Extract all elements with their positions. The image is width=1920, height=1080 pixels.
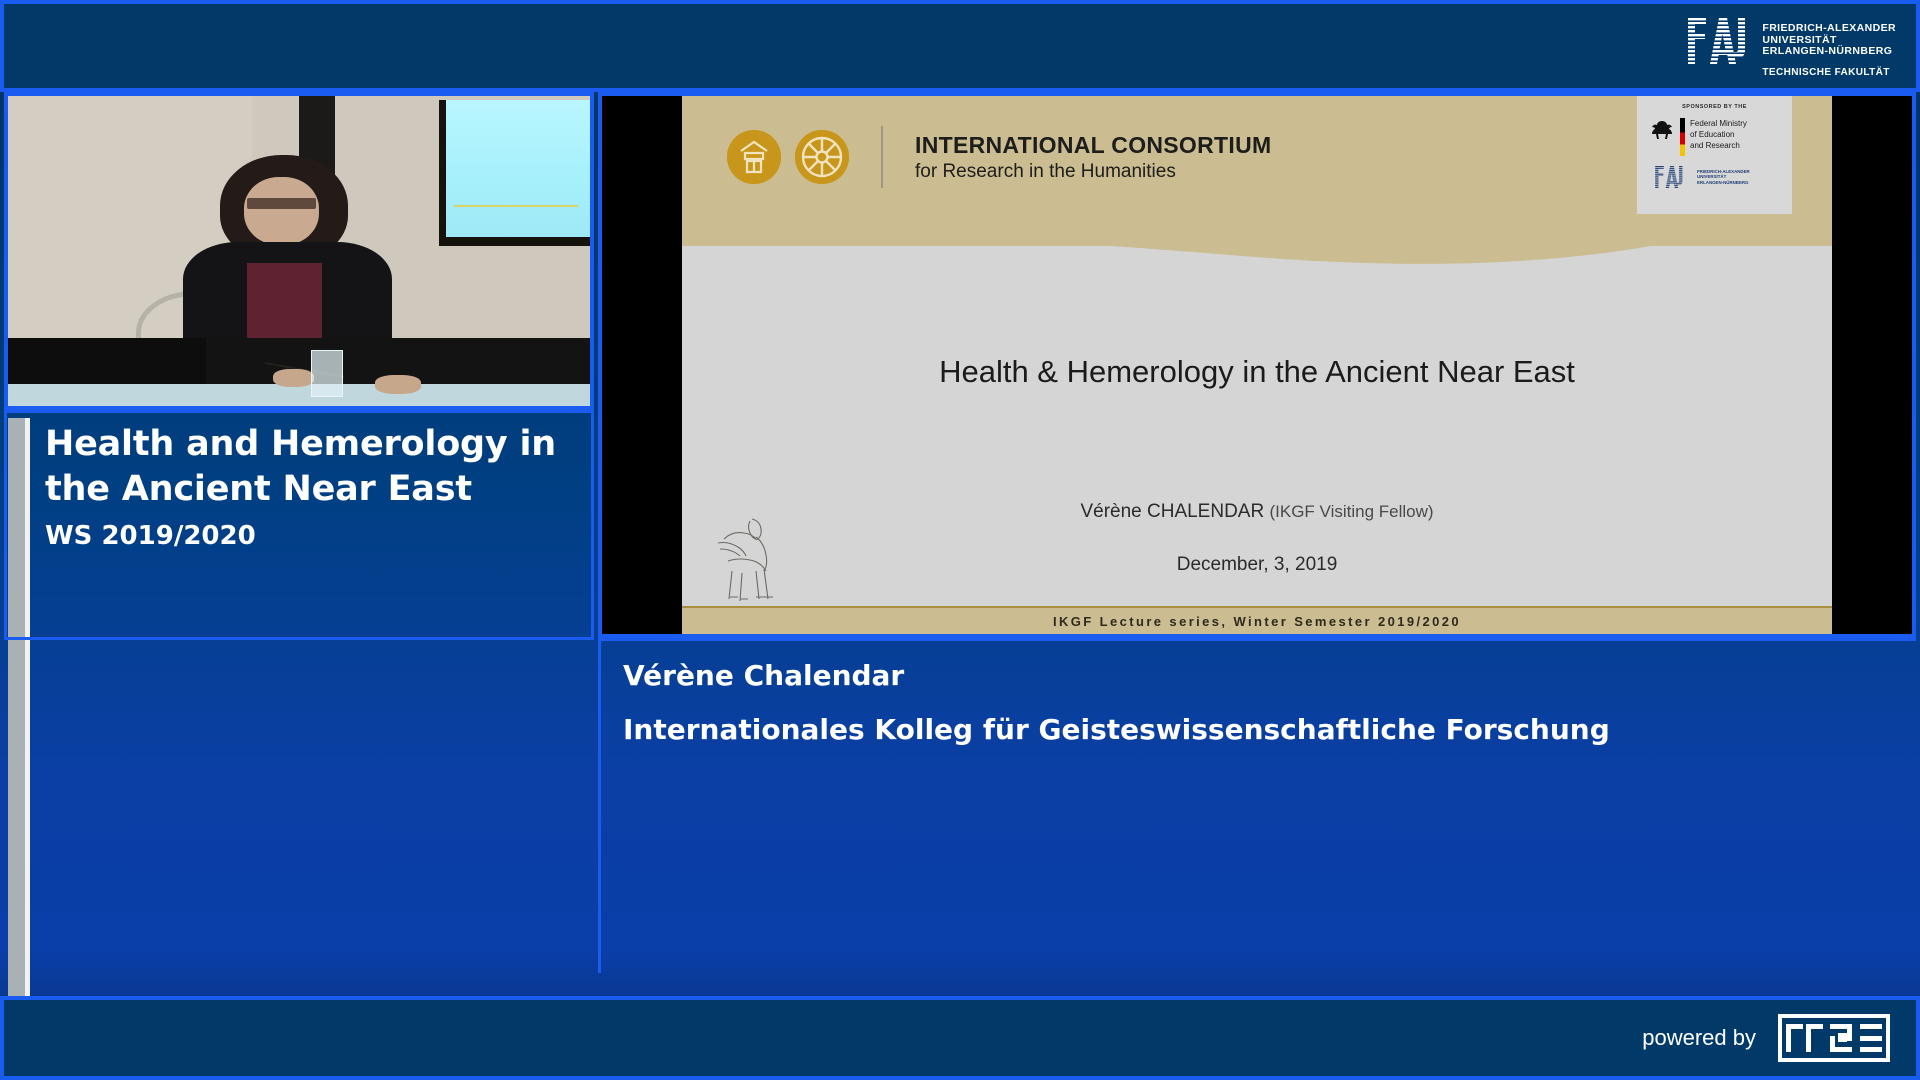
institution-line-3: ERLANGEN-NÜRNBERG <box>1762 46 1896 58</box>
speaker-info-block: Vérène Chalendar Internationales Kolleg … <box>598 638 1916 973</box>
speaker-name: Vérène Chalendar <box>623 659 904 692</box>
fau-brand[interactable]: FRIEDRICH-ALEXANDER UNIVERSITÄT ERLANGEN… <box>1688 18 1896 78</box>
speaker-organization: Internationales Kolleg für Geisteswissen… <box>623 713 1610 746</box>
slide-panel[interactable]: INTERNATIONAL CONSORTIUM for Research in… <box>598 92 1916 638</box>
institution-line-1: FRIEDRICH-ALEXANDER <box>1762 23 1896 35</box>
slide-title: Health & Hemerology in the Ancient Near … <box>682 354 1832 390</box>
video-desk-surface <box>8 384 590 406</box>
powered-by-group[interactable]: powered by <box>1642 1014 1890 1062</box>
sponsor-fau-line-3: ERLANGEN-NÜRNBERG <box>1697 180 1750 185</box>
german-eagle-icon <box>1649 118 1675 144</box>
speaker-face <box>244 177 320 245</box>
fau-logo-icon <box>1688 18 1750 64</box>
consortium-title: INTERNATIONAL CONSORTIUM <box>915 132 1271 159</box>
lecture-title: Health and Hemerology in the Ancient Nea… <box>45 422 575 512</box>
page-header: FRIEDRICH-ALEXANDER UNIVERSITÄT ERLANGEN… <box>0 0 1920 92</box>
speaker-hand-right <box>375 375 422 394</box>
sponsor-fau-text: FRIEDRICH-ALEXANDER UNIVERSITÄT ERLANGEN… <box>1697 169 1750 185</box>
slide-date: December, 3, 2019 <box>682 554 1832 576</box>
dharma-wheel-icon <box>795 130 849 184</box>
sponsor-fau-logo-icon <box>1647 166 1693 188</box>
slide-author: Vérène CHALENDAR (IKGF Visiting Fellow) <box>682 501 1832 523</box>
slide-author-name: Vérène CHALENDAR <box>1080 501 1264 522</box>
rrze-logo-icon <box>1778 1014 1890 1062</box>
water-glass <box>311 350 343 397</box>
powered-by-label: powered by <box>1642 1025 1756 1051</box>
german-flag-bar <box>1680 118 1685 156</box>
faculty-line: TECHNISCHE FAKULTÄT <box>1762 67 1896 79</box>
sponsor-caption: SPONSORED BY THE <box>1643 104 1786 110</box>
consortium-text: INTERNATIONAL CONSORTIUM for Research in… <box>915 132 1271 183</box>
fau-brand-text: FRIEDRICH-ALEXANDER UNIVERSITÄT ERLANGEN… <box>1762 18 1896 78</box>
lecture-term: WS 2019/2020 <box>45 519 575 553</box>
speaker-video-panel[interactable] <box>4 92 594 410</box>
video-projection-screen <box>439 100 590 246</box>
lecture-title-text: Health and Hemerology in the Ancient Nea… <box>45 422 575 553</box>
ikgf-house-icon <box>727 130 781 184</box>
page-footer: powered by <box>0 996 1920 1080</box>
brand-divider <box>881 126 883 188</box>
ministry-brand: Federal Ministry of Education and Resear… <box>1643 118 1786 156</box>
slide-footer-text: IKGF Lecture series, Winter Semester 201… <box>1053 614 1461 629</box>
slide-author-role: (IKGF Visiting Fellow) <box>1269 502 1433 521</box>
ministry-line-1: Federal Ministry <box>1690 118 1747 129</box>
player-page: FRIEDRICH-ALEXANDER UNIVERSITÄT ERLANGEN… <box>0 0 1920 1080</box>
speaker-hand-left <box>273 369 314 388</box>
sponsor-fau-brand: FRIEDRICH-ALEXANDER UNIVERSITÄT ERLANGEN… <box>1643 166 1786 188</box>
projection-text-line <box>454 205 578 207</box>
slide-footer-bar: IKGF Lecture series, Winter Semester 201… <box>682 606 1832 634</box>
sponsor-box: SPONSORED BY THE Federal Ministry of Edu… <box>1637 96 1792 214</box>
lamassu-illustration-icon <box>704 509 794 604</box>
ministry-line-3: and Research <box>1690 140 1747 151</box>
ministry-text: Federal Ministry of Education and Resear… <box>1690 118 1747 151</box>
video-laptop <box>8 338 206 385</box>
ministry-line-2: of Education <box>1690 129 1747 140</box>
consortium-subtitle: for Research in the Humanities <box>915 161 1271 183</box>
speaker-glasses <box>247 198 317 209</box>
consortium-brand: INTERNATIONAL CONSORTIUM for Research in… <box>727 126 1271 188</box>
slide-content: INTERNATIONAL CONSORTIUM for Research in… <box>682 96 1832 634</box>
